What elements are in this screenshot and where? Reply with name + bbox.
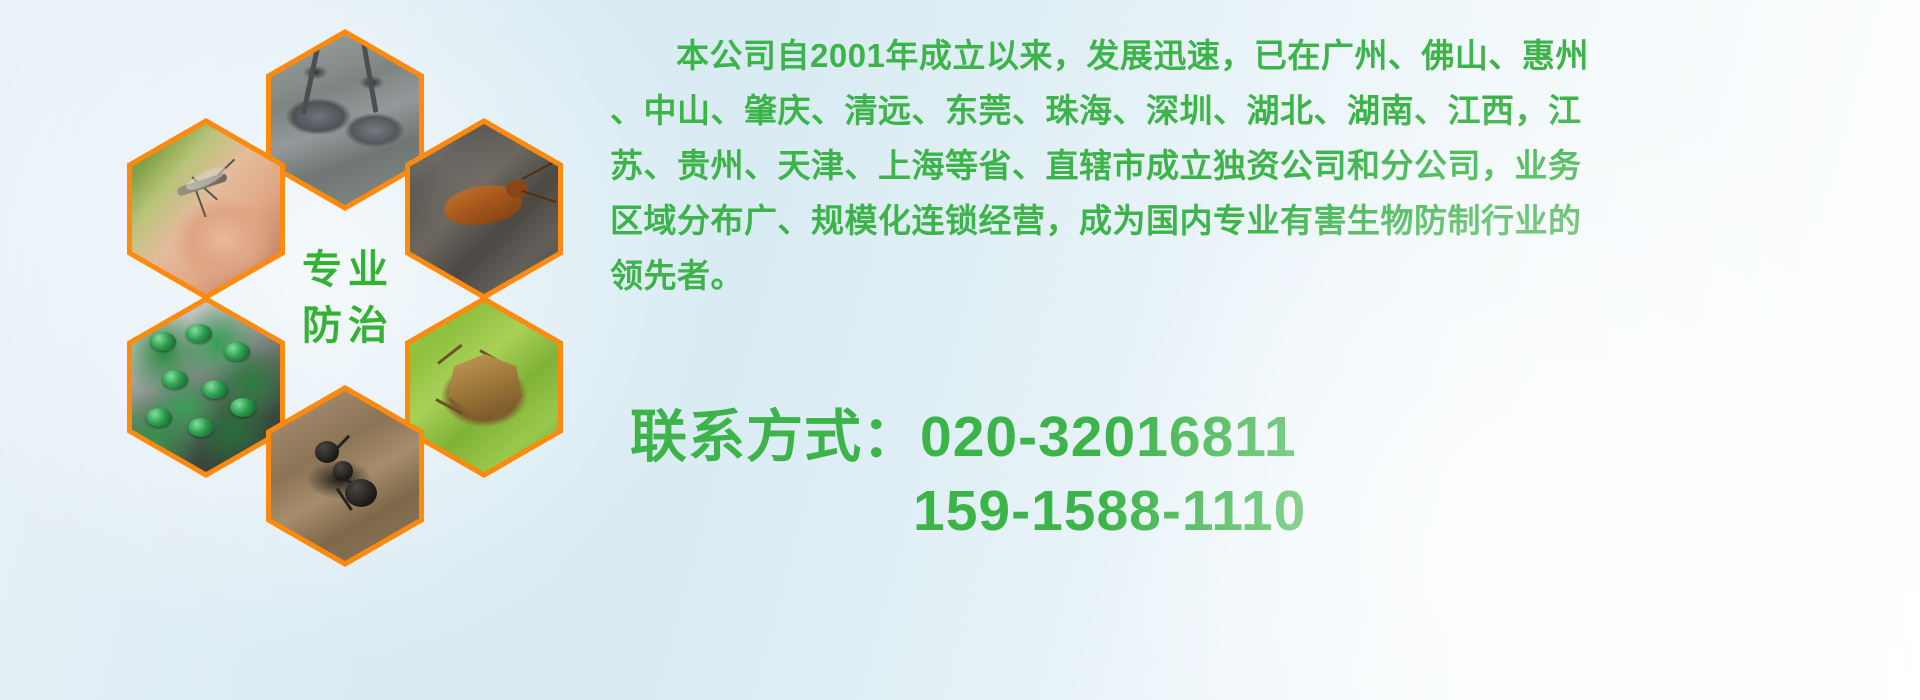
flies-photo (132, 302, 280, 472)
contact-phone-primary[interactable]: 联系方式：020-32016811 (630, 400, 1830, 474)
hex-cell-mosquito (127, 118, 285, 300)
hex-cell-rats (266, 29, 424, 211)
description-line: 本公司自2001年成立以来，发展迅速，已在广州、佛山、惠州 (610, 28, 1900, 83)
ant-abdomen-icon (345, 479, 377, 507)
description-line: 领先者。 (610, 248, 1900, 303)
rat-tail-icon (301, 37, 322, 114)
description-line: 、中山、肇庆、清远、东莞、珠海、深圳、湖北、湖南、江西，江 (610, 83, 1900, 138)
hex-center-caption: 专业 防治 (266, 207, 424, 389)
description-line: 苏、贵州、天津、上海等省、直辖市成立独资公司和分公司，业务 (610, 138, 1900, 193)
ant-photo (271, 391, 419, 561)
hex-inner-mosquito (132, 124, 280, 294)
cockroach-photo (410, 124, 558, 294)
caption-line-1: 专业 (296, 249, 394, 291)
fly-icon (230, 398, 256, 417)
hex-cell-cockroach (405, 118, 563, 300)
fly-icon (186, 324, 212, 343)
hex-inner-stinkbug (410, 302, 558, 472)
hex-inner-ant (271, 391, 419, 561)
contact-phone-secondary[interactable]: 159-1588-1110 (630, 474, 1830, 548)
hex-cell-ant (266, 385, 424, 567)
fly-icon (224, 342, 250, 361)
stinkbug-photo (410, 302, 558, 472)
hex-inner-cockroach (410, 124, 558, 294)
rat-tail-icon (361, 39, 379, 113)
ant-thorax-icon (333, 461, 353, 481)
stinkbug-leg-icon (437, 344, 462, 365)
hex-cell-flies (127, 296, 285, 478)
honeycomb-photo-cluster: 专业 防治 (95, 5, 595, 565)
fly-icon (188, 418, 214, 437)
cockroach-antenna-icon (522, 161, 555, 180)
hex-inner-flies (132, 302, 280, 472)
cockroach-head-icon (506, 180, 528, 198)
caption-line-2: 防治 (296, 305, 394, 347)
hex-cell-stinkbug (405, 296, 563, 478)
mosquito-photo (132, 124, 280, 294)
promo-banner: 专业 防治 本公司自2001年成立以来，发展迅速，已在广州、佛山、惠州 、中山、… (0, 0, 1920, 700)
fly-icon (146, 408, 172, 427)
hex-inner-rats (271, 35, 419, 205)
fly-icon (202, 380, 228, 399)
company-description: 本公司自2001年成立以来，发展迅速，已在广州、佛山、惠州 、中山、肇庆、清远、… (610, 28, 1900, 303)
fly-icon (150, 332, 176, 351)
fly-icon (162, 370, 188, 389)
cockroach-antenna-icon (522, 190, 557, 203)
ant-head-icon (315, 441, 339, 463)
contact-block: 联系方式：020-32016811 159-1588-1110 (630, 400, 1830, 548)
description-line: 区域分布广、规模化连锁经营，成为国内专业有害生物防制行业的 (610, 193, 1900, 248)
rats-photo (271, 35, 419, 205)
